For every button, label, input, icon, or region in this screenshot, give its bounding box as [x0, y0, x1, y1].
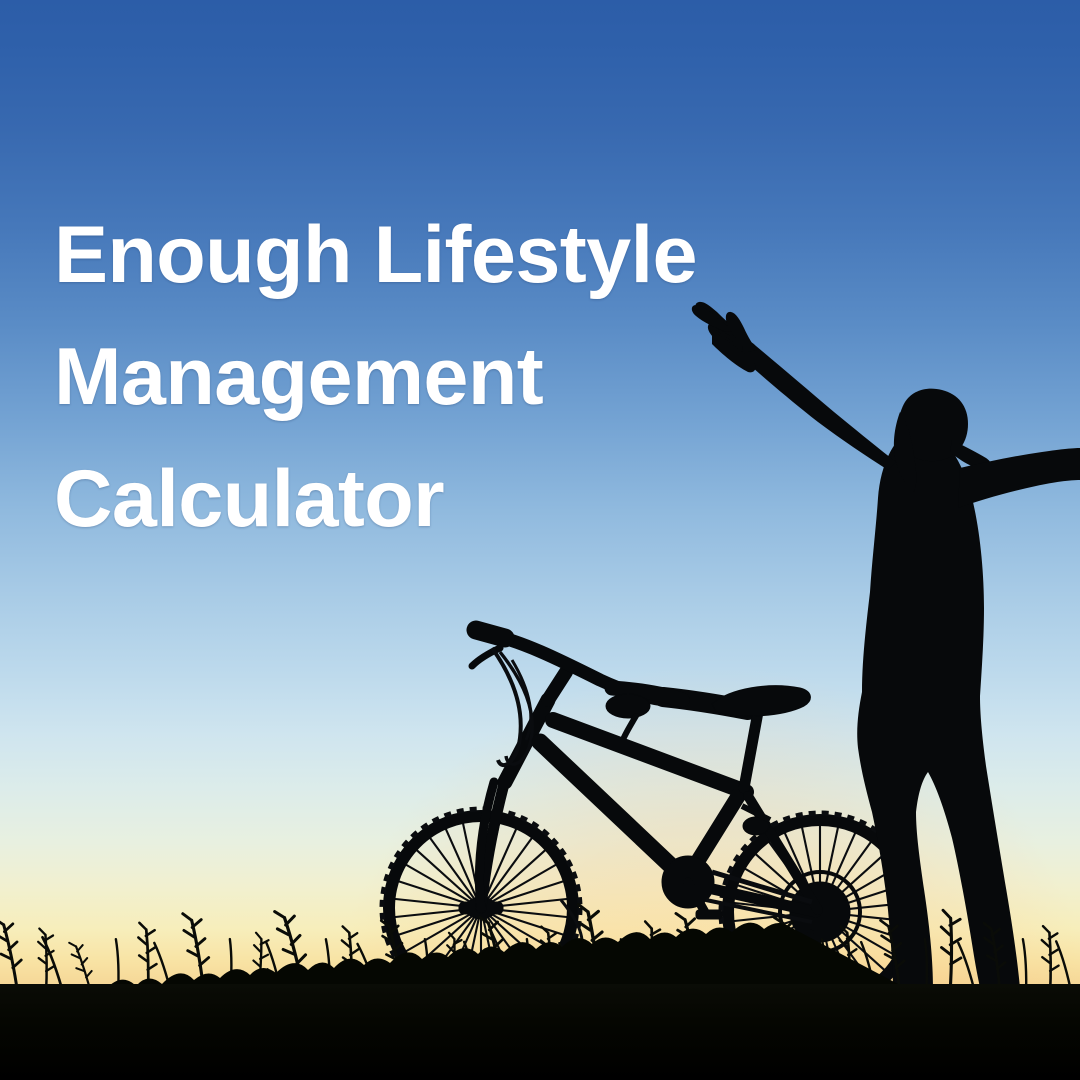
poster-canvas: Enough Lifestyle Management Calculator [0, 0, 1080, 1080]
ground-silhouette [0, 984, 1080, 1080]
bicycle-saddle [712, 686, 810, 716]
page-title: Enough Lifestyle Management Calculator [54, 194, 874, 560]
